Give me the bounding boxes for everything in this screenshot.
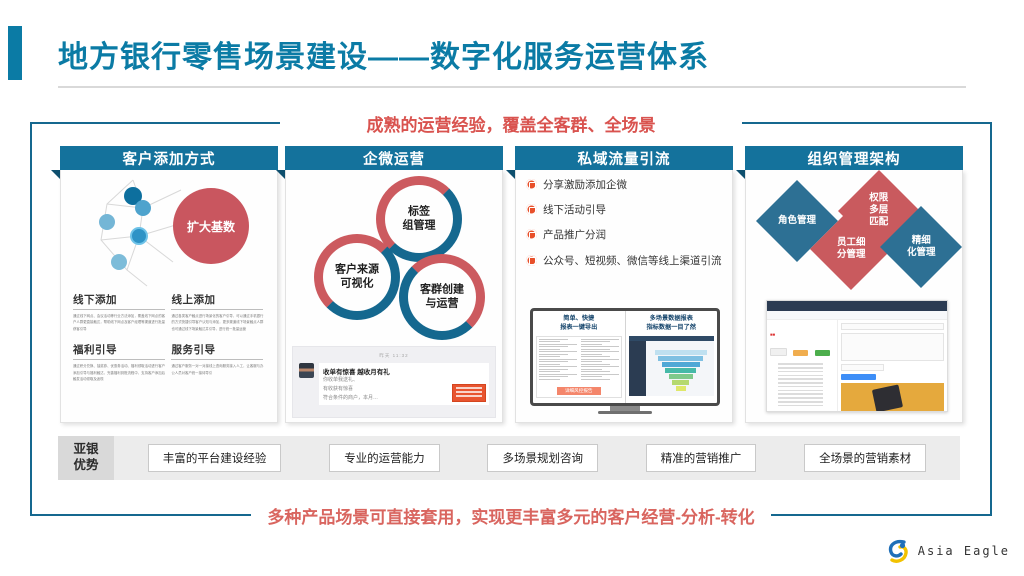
column-title: 组织管理架构 (808, 148, 901, 169)
chat-timestamp: 昨天 11:32 (293, 353, 495, 359)
advantage-bar: 亚银优势 丰富的平台建设经验 专业的运营能力 多场景规划咨询 精准的营销推广 全… (58, 436, 960, 480)
column-header: 私域流量引流 (515, 146, 733, 170)
console-titlebar (767, 301, 947, 311)
console-form-panel (838, 320, 947, 412)
title-divider (58, 86, 966, 88)
eagle-swirl-icon (885, 538, 911, 564)
blurb-text: 通过各类客户触点进行场景化的客户引导，可以通过手机银行的方式快捷引导客户认知与添… (171, 313, 263, 332)
badge-icon (526, 179, 537, 190)
column-private-traffic: 私域流量引流 分享激励添加企微 线下活动引导 产品推广分润 (515, 146, 733, 424)
column-body: 角色管理 员工细分管理 权限多层匹配 精细化管理 (745, 170, 963, 423)
admin-console-screenshot: ■■ (766, 300, 948, 412)
advantage-tag[interactable]: 丰富的平台建设经验 (148, 444, 282, 472)
column-body: 标签组管理 客户来源可视化 客群创建与运营 昨天 11:32 收单有惊喜 越收月… (285, 170, 503, 423)
advantage-label: 亚银优势 (58, 436, 114, 480)
column-header: 客户添加方式 (60, 146, 278, 170)
brand-name: Asia Eagle (918, 544, 1010, 558)
bottom-banner-text: 多种产品场景可直接套用，实现更丰富多元的客户经营-分析-转化 (251, 508, 770, 527)
column-wecom-operation: 企微运营 标签组管理 客户来源可视化 客群创建与运营 昨天 11:32 (285, 146, 503, 424)
ring-label: 客群创建与运营 (408, 283, 476, 311)
diamond-diagram: 角色管理 员工细分管理 权限多层匹配 精细化管理 (746, 174, 963, 294)
ring-customer-source: 客户来源可视化 (314, 234, 400, 320)
top-banner-text: 成熟的运营经验，覆盖全客群、全场景 (353, 116, 670, 135)
chat-message-row: 收单有惊喜 越收月有礼 你收单我送礼、 有收获有惊喜 符合条件的商户，本月… (299, 363, 489, 405)
bullet-item: 线下活动引导 (526, 203, 724, 217)
slide-root: 地方银行零售场景建设——数字化服务运营体系 成熟的运营经验，覆盖全客群、全场景 … (0, 0, 1024, 576)
advantage-tag[interactable]: 专业的运营能力 (329, 444, 440, 472)
badge-icon (526, 229, 537, 240)
blurb-item: 线下添加 通过线下网点、会议活动等行业方法添加，覆盖线下网点的客户人群更直接触达… (73, 292, 165, 332)
column-title: 企微运营 (363, 148, 425, 169)
monitor-pane-left: 简单、快捷报表一键导出 详细风控报告 (533, 311, 625, 403)
network-center-label: 扩大基数 (187, 219, 236, 234)
bottom-banner: 多种产品场景可直接套用，实现更丰富多元的客户经营-分析-转化 (30, 503, 992, 528)
console-body: ■■ (767, 320, 947, 412)
blurb-item: 线上添加 通过各类客户触点进行场景化的客户引导，可以通过手机银行的方式快捷引导客… (171, 292, 263, 332)
console-badge: ■■ (770, 332, 775, 337)
frame-edge-right (990, 122, 992, 516)
chat-card-thumbnail (452, 384, 486, 402)
console-breadcrumb (767, 311, 947, 320)
diamond-label: 员工细分管理 (837, 237, 866, 261)
console-tree (770, 363, 834, 406)
console-tree-panel: ■■ (767, 320, 838, 412)
badge-icon (526, 204, 537, 215)
monitor-base (598, 411, 652, 414)
diamond-label: 角色管理 (778, 215, 816, 227)
page-title: 地方银行零售场景建设——数字化服务运营体系 (58, 32, 709, 76)
bullet-item: 产品推广分润 (526, 228, 724, 242)
console-button-row (770, 343, 834, 361)
dashboard-preview (629, 336, 715, 396)
column-org-structure: 组织管理架构 角色管理 员工细分管理 权限多层匹配 精细化管理 (745, 146, 963, 424)
badge-icon (526, 255, 537, 266)
ring-diagram: 标签组管理 客户来源可视化 客群创建与运营 (286, 170, 503, 342)
bullet-text: 线下活动引导 (543, 203, 606, 217)
column-body: 扩大基数 线下添加 通过线下网点、会议活动等行业方法添加，覆盖线下网点的客户人群… (60, 170, 278, 423)
blurb-text: 通过积分兑换、抽奖券、优惠券活动、福利领取活动进行客户添加引导与福利触达，完善福… (73, 363, 165, 382)
blurb-text: 通过客户服务一对一对接线上咨询服务接入人工，让客服与办公人员对客户统一接待导引 (171, 363, 263, 376)
bullet-item: 公众号、短视频、微信等线上渠道引流 (526, 254, 724, 268)
monitor-screen: 简单、快捷报表一键导出 详细风控报告 多场景数据报表指标数据一目了然 (530, 308, 720, 406)
blurb-heading: 线下添加 (73, 292, 165, 310)
advantage-tag-list: 丰富的平台建设经验 专业的运营能力 多场景规划咨询 精准的营销推广 全场景的营销… (114, 444, 960, 472)
monitor-caption-right: 多场景数据报表指标数据一目了然 (629, 314, 715, 333)
column-corner-tab (736, 170, 745, 179)
column-header: 企微运营 (285, 146, 503, 170)
diamond-label: 权限多层匹配 (869, 193, 888, 229)
column-corner-tab (506, 170, 515, 179)
columns-container: 客户添加方式 (32, 146, 990, 426)
monitor-caption-left: 简单、快捷报表一键导出 (536, 314, 622, 333)
diamond-label: 精细化管理 (907, 235, 936, 259)
ring-label: 客户来源可视化 (323, 263, 391, 291)
column-title: 客户添加方式 (123, 148, 216, 169)
column-body: 分享激励添加企微 线下活动引导 产品推广分润 公众号、短视频、微信等线上渠道引流 (515, 170, 733, 423)
chat-preview: 昨天 11:32 收单有惊喜 越收月有礼 你收单我送礼、 有收获有惊喜 符合条件… (292, 346, 496, 418)
advantage-tag[interactable]: 全场景的营销素材 (804, 444, 926, 472)
column-customer-add: 客户添加方式 (60, 146, 278, 424)
bullet-text: 产品推广分润 (543, 228, 606, 242)
funnel-chart-icon (655, 350, 707, 392)
column-corner-tab (51, 170, 60, 179)
monitor-illustration: 简单、快捷报表一键导出 详细风控报告 多场景数据报表指标数据一目了然 (530, 308, 720, 414)
column-header: 组织管理架构 (745, 146, 963, 170)
chat-card: 收单有惊喜 越收月有礼 你收单我送礼、 有收获有惊喜 符合条件的商户，本月… (319, 363, 489, 405)
monitor-pane-right: 多场景数据报表指标数据一目了然 (625, 311, 718, 403)
blurb-text: 通过线下网点、会议活动等行业方法添加，覆盖线下网点的客户人群更直接触达，帮助线下… (73, 313, 165, 332)
chat-card-title: 收单有惊喜 越收月有礼 (323, 366, 485, 376)
report-button: 详细风控报告 (557, 387, 601, 395)
title-accent-bar (8, 26, 22, 80)
console-photo (841, 383, 944, 412)
blurb-heading: 线上添加 (171, 292, 263, 310)
blurb-item: 福利引导 通过积分兑换、抽奖券、优惠券活动、福利领取活动进行客户添加引导与福利触… (73, 336, 165, 382)
bullet-text: 分享激励添加企微 (543, 178, 627, 192)
advantage-tag[interactable]: 精准的营销推广 (646, 444, 757, 472)
avatar (299, 363, 314, 378)
bullet-text: 公众号、短视频、微信等线上渠道引流 (543, 254, 722, 268)
top-banner: 成熟的运营经验，覆盖全客群、全场景 (30, 111, 992, 136)
bullet-item: 分享激励添加企微 (526, 178, 724, 192)
blurb-heading: 福利引导 (73, 342, 165, 360)
bullet-list: 分享激励添加企微 线下活动引导 产品推广分润 公众号、短视频、微信等线上渠道引流 (526, 178, 724, 279)
ring-group-create: 客群创建与运营 (399, 254, 485, 340)
blurb-item: 服务引导 通过客户服务一对一对接线上咨询服务接入人工，让客服与办公人员对客户统一… (171, 336, 263, 376)
blurb-heading: 服务引导 (171, 342, 263, 360)
blurb-grid: 线下添加 通过线下网点、会议活动等行业方法添加，覆盖线下网点的客户人群更直接触达… (73, 292, 267, 387)
column-corner-tab (276, 170, 285, 179)
ring-label: 标签组管理 (385, 205, 453, 233)
column-title: 私域流量引流 (578, 148, 671, 169)
network-diagram-icon: 扩大基数 (61, 174, 278, 292)
brand-logo: Asia Eagle (885, 538, 1010, 564)
advantage-tag[interactable]: 多场景规划咨询 (487, 444, 598, 472)
